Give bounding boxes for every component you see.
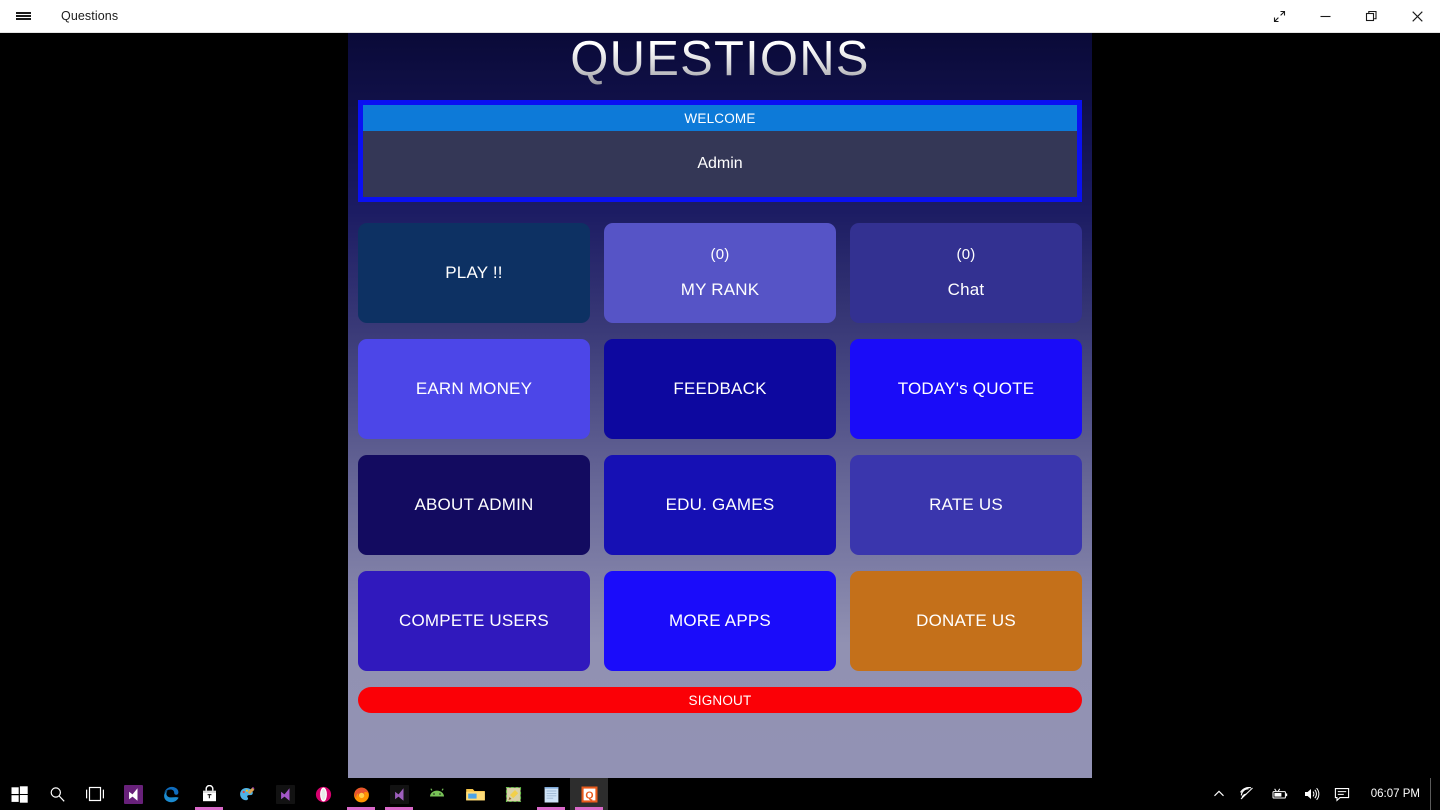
- edge-icon[interactable]: [152, 778, 190, 810]
- vs-code-insiders-icon[interactable]: [266, 778, 304, 810]
- tile-play[interactable]: PLAY !!: [358, 223, 590, 323]
- tile-my-rank-count: (0): [711, 246, 730, 263]
- paint-3d-icon[interactable]: [228, 778, 266, 810]
- signout-button[interactable]: SIGNOUT: [358, 687, 1082, 713]
- system-tray: 06:07 PM: [1206, 778, 1440, 810]
- firefox-icon[interactable]: [342, 778, 380, 810]
- windows-taskbar: Q: [0, 778, 1440, 810]
- tile-todays-quote-label: TODAY's QUOTE: [898, 379, 1035, 399]
- window-controls: [1256, 0, 1440, 33]
- tile-about-admin-label: ABOUT ADMIN: [414, 495, 533, 515]
- welcome-header-label: WELCOME: [363, 105, 1077, 131]
- tile-chat-label: Chat: [948, 280, 985, 300]
- app-title: QUESTIONS: [348, 33, 1092, 89]
- hamburger-icon[interactable]: [0, 0, 46, 33]
- vs-code-icon[interactable]: [380, 778, 418, 810]
- questions-app-icon[interactable]: Q: [570, 778, 608, 810]
- tile-play-label: PLAY !!: [445, 263, 502, 283]
- visual-studio-icon[interactable]: [114, 778, 152, 810]
- svg-text:Q: Q: [585, 789, 593, 801]
- close-icon[interactable]: [1394, 0, 1440, 33]
- tile-earn-money[interactable]: EARN MONEY: [358, 339, 590, 439]
- tile-compete-users[interactable]: COMPETE USERS: [358, 571, 590, 671]
- window-title: Questions: [61, 9, 118, 23]
- tile-feedback-label: FEEDBACK: [673, 379, 766, 399]
- tile-my-rank[interactable]: (0)MY RANK: [604, 223, 836, 323]
- chat-bubble-icon[interactable]: [1327, 778, 1357, 810]
- tile-grid: PLAY !!(0)MY RANK(0)ChatEARN MONEYFEEDBA…: [358, 223, 1082, 671]
- tile-earn-money-label: EARN MONEY: [416, 379, 532, 399]
- minimize-button[interactable]: [1302, 0, 1348, 33]
- tile-edu-games[interactable]: EDU. GAMES: [604, 455, 836, 555]
- wifi-icon[interactable]: [1232, 778, 1263, 810]
- show-desktop-button[interactable]: [1430, 778, 1436, 810]
- fullscreen-button[interactable]: [1256, 0, 1302, 33]
- tile-more-apps[interactable]: MORE APPS: [604, 571, 836, 671]
- tile-donate-us[interactable]: DONATE US: [850, 571, 1082, 671]
- battery-charging-icon[interactable]: [1263, 778, 1296, 810]
- tile-rate-us[interactable]: RATE US: [850, 455, 1082, 555]
- tile-edu-games-label: EDU. GAMES: [666, 495, 775, 515]
- search-icon[interactable]: [38, 778, 76, 810]
- tile-rate-us-label: RATE US: [929, 495, 1003, 515]
- welcome-username: Admin: [363, 131, 1077, 197]
- restore-button[interactable]: [1348, 0, 1394, 33]
- task-view-icon[interactable]: [76, 778, 114, 810]
- tile-my-rank-label: MY RANK: [681, 280, 760, 300]
- android-icon[interactable]: [418, 778, 456, 810]
- questions-app-window: QUESTIONS WELCOME Admin PLAY !!(0)MY RAN…: [348, 33, 1092, 778]
- tile-todays-quote[interactable]: TODAY's QUOTE: [850, 339, 1082, 439]
- opera-icon[interactable]: [304, 778, 342, 810]
- folder-icon[interactable]: [456, 778, 494, 810]
- tile-about-admin[interactable]: ABOUT ADMIN: [358, 455, 590, 555]
- taskbar-clock[interactable]: 06:07 PM: [1357, 778, 1430, 810]
- snip-tool-icon[interactable]: [494, 778, 532, 810]
- tile-donate-us-label: DONATE US: [916, 611, 1016, 631]
- window-titlebar: Questions: [0, 0, 1440, 33]
- tile-chat-count: (0): [957, 246, 976, 263]
- speaker-icon[interactable]: [1296, 778, 1327, 810]
- tile-chat[interactable]: (0)Chat: [850, 223, 1082, 323]
- store-icon[interactable]: [190, 778, 228, 810]
- tile-compete-users-label: COMPETE USERS: [399, 611, 549, 631]
- notepad-icon[interactable]: [532, 778, 570, 810]
- tile-more-apps-label: MORE APPS: [669, 611, 771, 631]
- start-button[interactable]: [0, 778, 38, 810]
- welcome-card: WELCOME Admin: [358, 100, 1082, 202]
- tile-feedback[interactable]: FEEDBACK: [604, 339, 836, 439]
- chevron-up-icon[interactable]: [1206, 778, 1232, 810]
